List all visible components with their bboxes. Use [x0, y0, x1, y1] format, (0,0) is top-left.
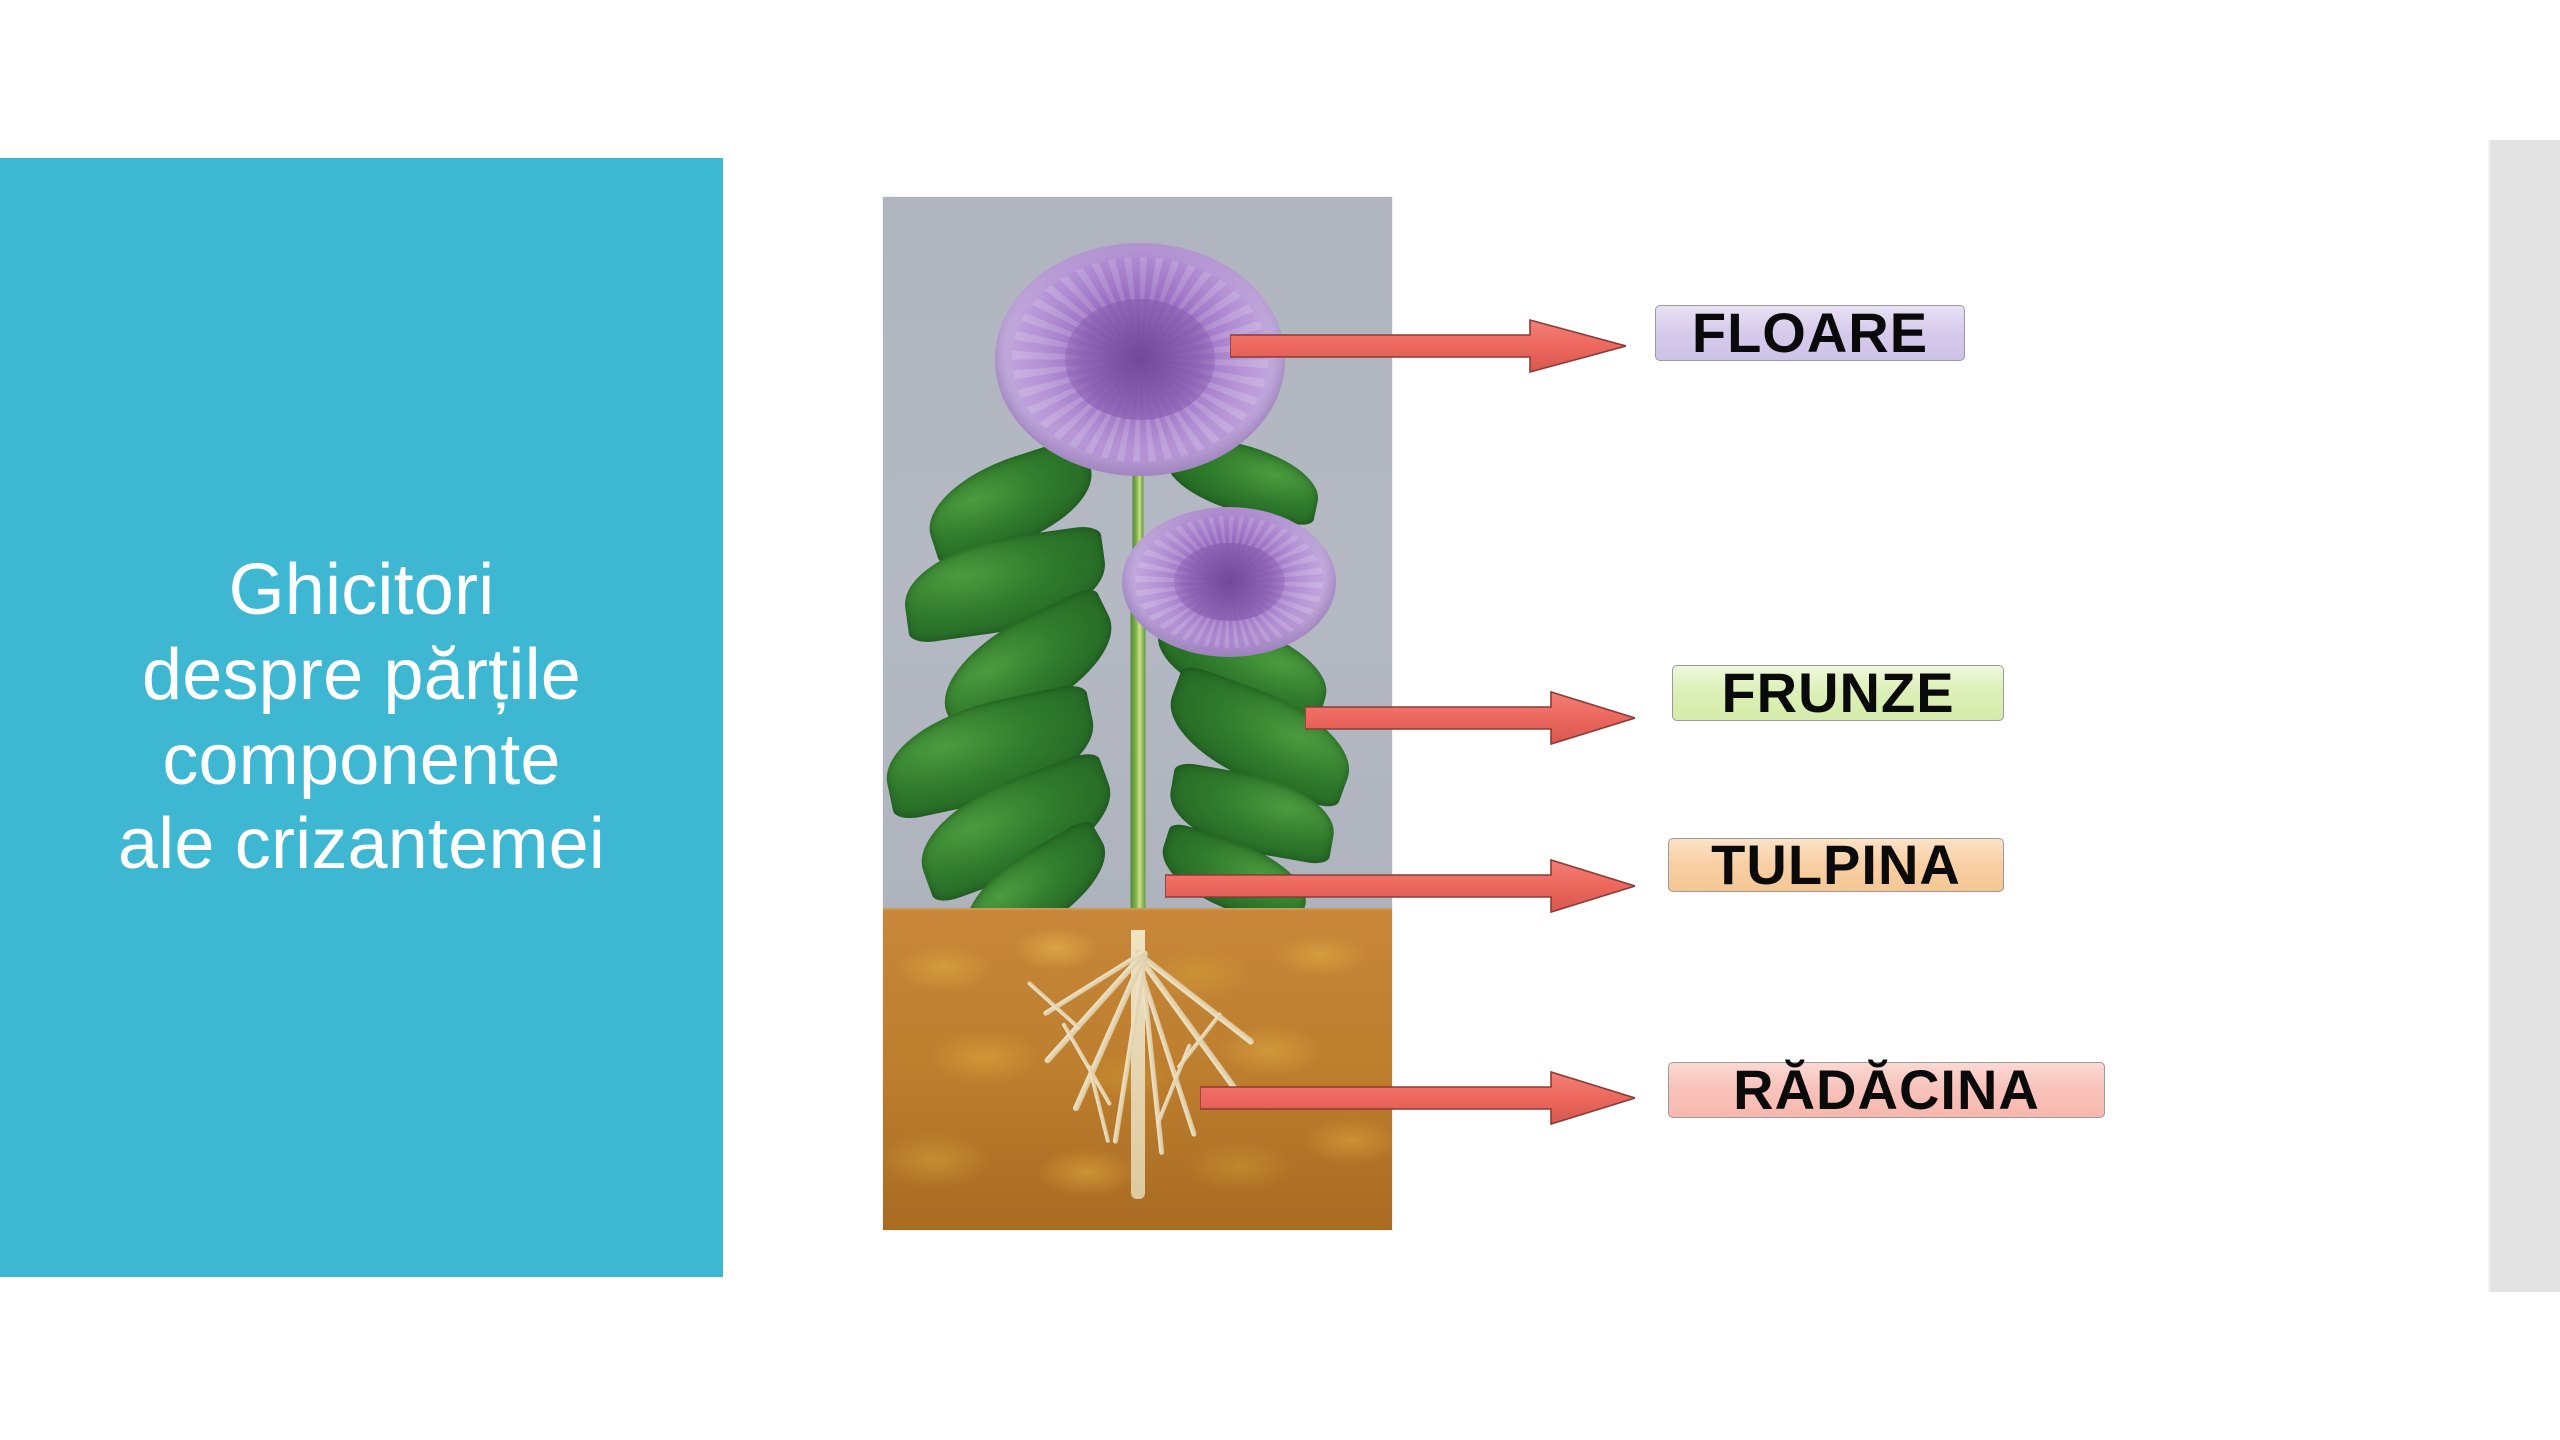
label-tulpina[interactable]: TULPINA [1668, 838, 2004, 892]
label-radacina-text: RĂDĂCINA [1733, 1062, 2040, 1118]
plant-flower-secondary [1122, 507, 1336, 657]
title-panel: Ghicitori despre părțile componente ale … [0, 158, 723, 1277]
arrow-to-tulpina [1165, 858, 1635, 914]
label-tulpina-text: TULPINA [1711, 837, 1961, 893]
label-radacina[interactable]: RĂDĂCINA [1668, 1062, 2105, 1118]
label-frunze-text: FRUNZE [1721, 665, 1954, 721]
arrow-to-frunze [1305, 690, 1635, 746]
arrow-to-radacina [1200, 1070, 1635, 1126]
label-floare[interactable]: FLOARE [1655, 305, 1965, 361]
slide-canvas: Ghicitori despre părțile componente ale … [0, 0, 2560, 1440]
page-title: Ghicitori despre părțile componente ale … [96, 548, 627, 888]
arrow-to-floare [1230, 318, 1626, 374]
right-side-panel [2488, 140, 2560, 1292]
label-frunze[interactable]: FRUNZE [1672, 665, 2004, 721]
label-floare-text: FLOARE [1692, 305, 1928, 361]
